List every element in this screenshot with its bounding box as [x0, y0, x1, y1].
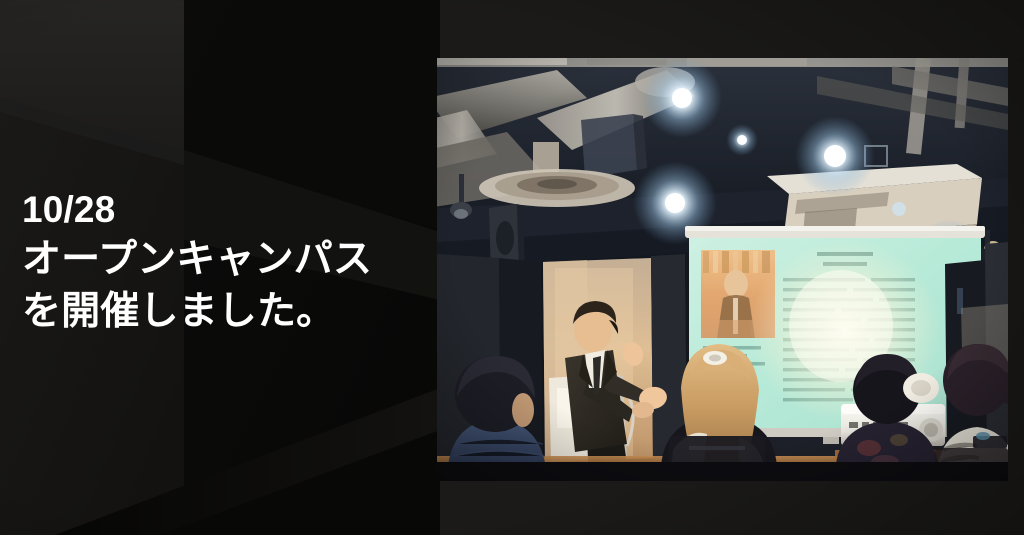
- headline-line-event: オープンキャンパス: [22, 234, 422, 286]
- headline-line-sentence: を開催しました。: [22, 286, 422, 338]
- headline-line-date: 10/28: [22, 186, 422, 234]
- event-photo-illustration: [437, 58, 1008, 481]
- headline: 10/28 オープンキャンパス を開催しました。: [22, 186, 422, 338]
- event-photo: [437, 58, 1008, 481]
- event-banner: 10/28 オープンキャンパス を開催しました。: [0, 0, 1024, 535]
